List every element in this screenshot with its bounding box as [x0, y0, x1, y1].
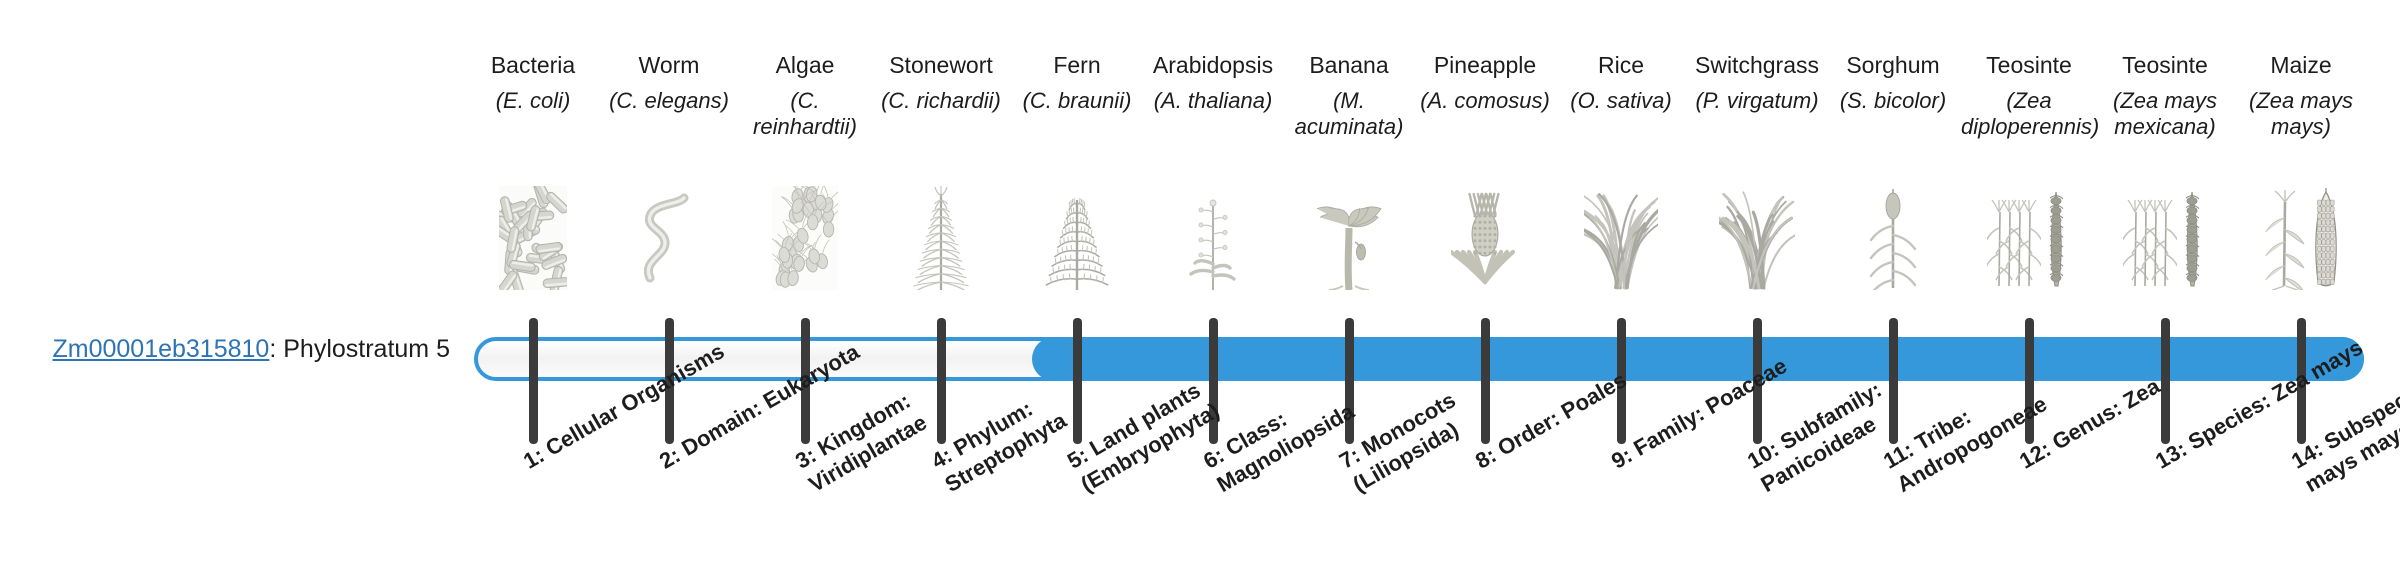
species-column-12: Teosinte(Zea diploperennis) — [1961, 52, 2097, 144]
species-latin-name: (A. thaliana) — [1145, 88, 1281, 144]
species-latin-name: (C. braunii) — [1009, 88, 1145, 144]
species-column-3: Algae(C. reinhardtii) — [737, 52, 873, 144]
sorghum-icon — [1825, 172, 1961, 290]
species-latin-name: (Zea mays mexicana) — [2097, 88, 2233, 144]
species-column-8: Pineapple(A. comosus) — [1417, 52, 1553, 144]
species-column-4: Stonewort(C. richardii) — [873, 52, 1009, 144]
species-common-name: Pineapple — [1417, 52, 1553, 82]
arabidopsis-icon — [1145, 172, 1281, 290]
species-column-11: Sorghum(S. bicolor) — [1825, 52, 1961, 144]
species-latin-name: (C. elegans) — [601, 88, 737, 144]
teosinte-plant-ear-icon — [1961, 172, 2097, 290]
species-latin-name: (O. sativa) — [1553, 88, 1689, 144]
switchgrass-icon — [1689, 172, 1825, 290]
species-column-1: Bacteria(E. coli) — [465, 52, 601, 144]
stonewort-icon — [873, 172, 1009, 290]
banana-plant-icon — [1281, 172, 1417, 290]
species-common-name: Stonewort — [873, 52, 1009, 82]
species-latin-name: (M. acuminata) — [1281, 88, 1417, 144]
nematode-worm-icon — [601, 172, 737, 290]
rice-plant-icon — [1553, 172, 1689, 290]
phylostratum-value: Phylostratum 5 — [283, 335, 450, 363]
species-latin-name: (Zea mays mays) — [2233, 88, 2369, 144]
gene-phylostratum-label: Zm00001eb315810: Phylostratum 5 — [40, 336, 450, 364]
pineapple-icon — [1417, 172, 1553, 290]
species-common-name: Worm — [601, 52, 737, 82]
species-column-7: Banana(M. acuminata) — [1281, 52, 1417, 144]
species-common-name: Maize — [2233, 52, 2369, 82]
species-common-name: Algae — [737, 52, 873, 82]
species-column-13: Teosinte(Zea mays mexicana) — [2097, 52, 2233, 144]
species-common-name: Banana — [1281, 52, 1417, 82]
species-column-6: Arabidopsis(A. thaliana) — [1145, 52, 1281, 144]
species-common-name: Bacteria — [465, 52, 601, 82]
species-latin-name: (P. virgatum) — [1689, 88, 1825, 144]
gene-id-link[interactable]: Zm00001eb315810 — [52, 335, 269, 363]
species-latin-name: (C. reinhardtii) — [737, 88, 873, 144]
species-common-name: Sorghum — [1825, 52, 1961, 82]
species-common-name: Arabidopsis — [1145, 52, 1281, 82]
species-common-name: Switchgrass — [1689, 52, 1825, 82]
species-column-5: Fern(C. braunii) — [1009, 52, 1145, 144]
green-algae-cells-icon — [737, 172, 873, 290]
species-column-2: Worm(C. elegans) — [601, 52, 737, 144]
species-latin-name: (C. richardii) — [873, 88, 1009, 144]
species-column-14: Maize(Zea mays mays) — [2233, 52, 2369, 144]
species-common-name: Rice — [1553, 52, 1689, 82]
phylostratigraphy-figure: Zm00001eb315810: Phylostratum 5 Bacteria… — [0, 0, 2400, 580]
species-latin-name: (Zea diploperennis) — [1961, 88, 2097, 144]
phylostratum-tick-1[interactable] — [529, 318, 538, 444]
species-latin-name: (E. coli) — [465, 88, 601, 144]
species-common-name: Teosinte — [1961, 52, 2097, 82]
maize-plant-ear-icon — [2233, 172, 2369, 290]
gene-label-separator: : — [269, 335, 283, 363]
species-common-name: Fern — [1009, 52, 1145, 82]
species-common-name: Teosinte — [2097, 52, 2233, 82]
species-latin-name: (A. comosus) — [1417, 88, 1553, 144]
species-column-9: Rice(O. sativa) — [1553, 52, 1689, 144]
species-column-10: Switchgrass(P. virgatum) — [1689, 52, 1825, 144]
species-latin-name: (S. bicolor) — [1825, 88, 1961, 144]
bacteria-rods-icon — [465, 172, 601, 290]
fern-frond-icon — [1009, 172, 1145, 290]
teosinte-plant-ear-icon — [2097, 172, 2233, 290]
